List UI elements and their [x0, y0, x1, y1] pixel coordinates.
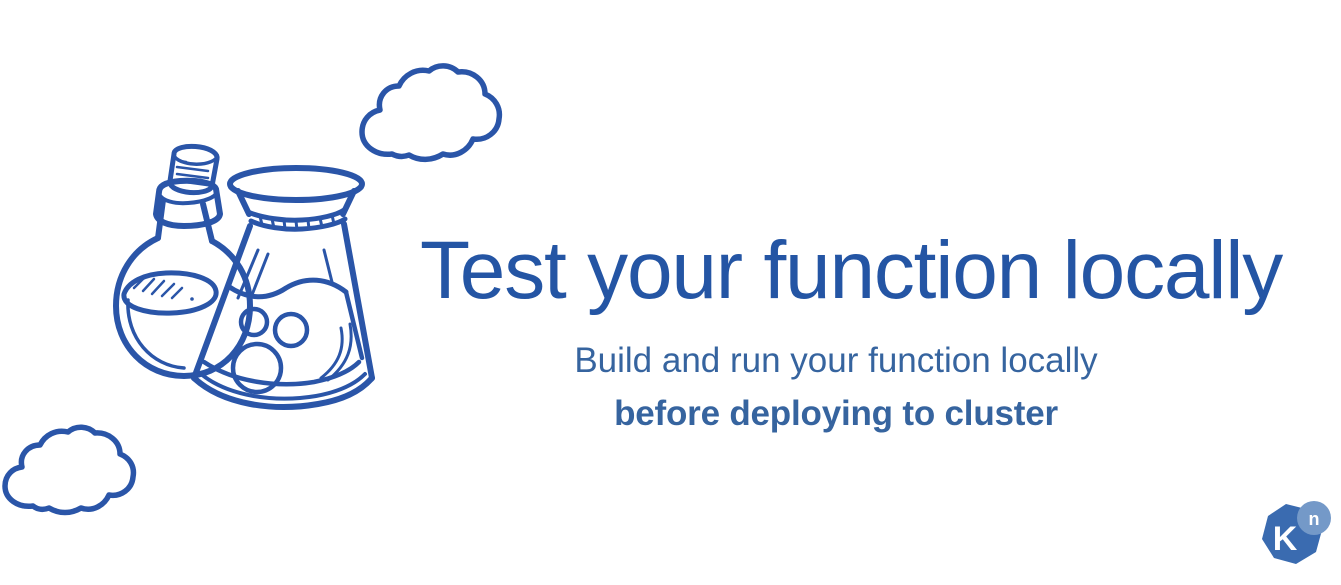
text-block: Test your function locally Build and run…: [420, 228, 1260, 440]
logo-letter-n: n: [1309, 509, 1320, 529]
logo-letter-k: K: [1273, 520, 1298, 558]
cloud-bottom-icon: [0, 424, 152, 516]
subtitle-block: Build and run your function locally befo…: [420, 335, 1252, 440]
page-title: Test your function locally: [420, 228, 1260, 313]
subtitle-line-2: before deploying to cluster: [420, 388, 1252, 441]
cloud-top-icon: [352, 62, 506, 167]
knative-logo: K n: [1252, 500, 1334, 574]
subtitle-line-1: Build and run your function locally: [420, 335, 1252, 388]
slide-canvas: Test your function locally Build and run…: [0, 0, 1341, 585]
flask-illustration: [62, 142, 392, 422]
